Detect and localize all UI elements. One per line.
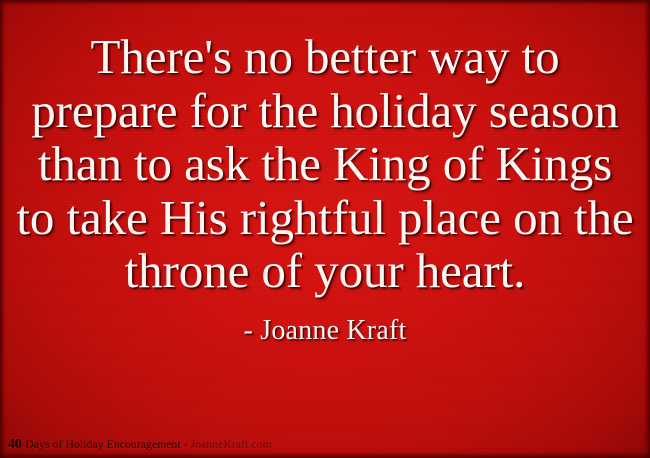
quote-card: There's no better way to prepare for the…: [0, 0, 650, 458]
footer-separator: -: [184, 439, 188, 451]
footer-website-link[interactable]: JoanneKraft.com: [191, 439, 272, 451]
card-content: There's no better way to prepare for the…: [0, 0, 650, 458]
footer-series-title: Days of Holiday Encouragement: [25, 439, 180, 451]
footer-day-count: 40: [8, 437, 21, 453]
footer-bar: 40 Days of Holiday Encouragement - Joann…: [0, 432, 650, 458]
quote-attribution: - Joanne Kraft: [244, 298, 407, 347]
quote-text: There's no better way to prepare for the…: [7, 0, 643, 298]
